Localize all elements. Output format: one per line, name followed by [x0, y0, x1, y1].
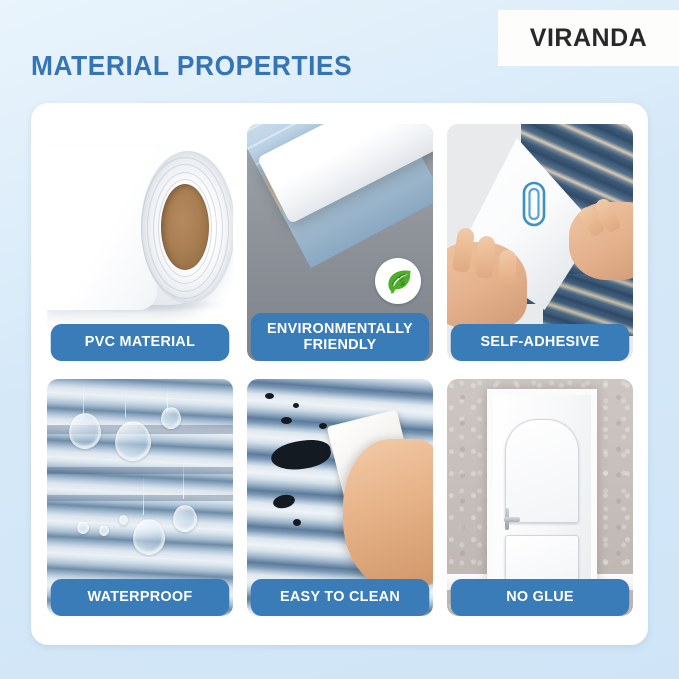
feature-label-no-glue: NO GLUE [451, 579, 630, 616]
feature-label-pvc-material: PVC MATERIAL [51, 324, 230, 361]
page-title: MATERIAL PROPERTIES [31, 50, 352, 82]
page-header: VIRANDA MATERIAL PROPERTIES [0, 0, 679, 103]
feature-label-self-adhesive: SELF-ADHESIVE [451, 324, 630, 361]
leaf-badge [375, 258, 421, 304]
feature-label-environmentally-friendly: ENVIRONMENTALLY FRIENDLY [251, 313, 430, 361]
feature-grid: PVC MATERIAL [47, 124, 634, 627]
brand-name: VIRANDA [530, 24, 647, 53]
brand-logo-box: VIRANDA [498, 10, 679, 66]
leaf-icon [383, 266, 413, 296]
feature-card-no-glue[interactable]: NO GLUE [447, 379, 633, 616]
paperclip-icon [521, 180, 547, 228]
feature-card-self-adhesive[interactable]: SELF-ADHESIVE [447, 124, 633, 361]
feature-label-waterproof: WATERPROOF [51, 579, 230, 616]
feature-card-waterproof[interactable]: WATERPROOF [47, 379, 233, 616]
feature-card-environmentally-friendly[interactable]: ENVIRONMENTALLY FRIENDLY [247, 124, 433, 361]
feature-card-easy-to-clean[interactable]: EASY TO CLEAN [247, 379, 433, 616]
feature-label-easy-to-clean: EASY TO CLEAN [251, 579, 430, 616]
feature-card-pvc-material[interactable]: PVC MATERIAL [47, 124, 233, 361]
